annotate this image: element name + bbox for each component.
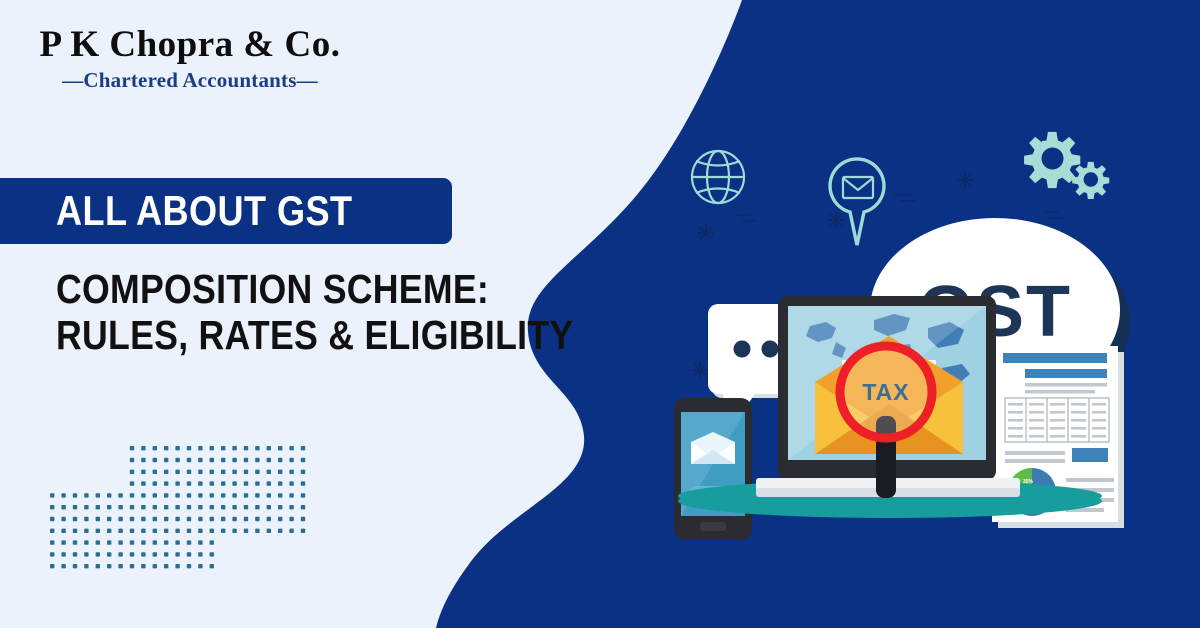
headline-kicker: ALL ABOUT GST [56,187,353,235]
brand-logo: P K Chopra & Co. —Chartered Accountants— [0,26,380,93]
brand-name: P K Chopra & Co. [0,26,380,65]
envelope-pin-icon [830,159,884,245]
gst-illustration: GST [660,120,1160,540]
decorative-dot-pattern [50,446,320,601]
gst-banner: P K Chopra & Co. —Chartered Accountants—… [0,0,1200,628]
envelope-stamp-label: TAX [862,379,909,405]
headline-subtitle-line-2: RULES, RATES & ELIGIBILITY [56,312,508,358]
headline-subtitle: COMPOSITION SCHEME: RULES, RATES & ELIGI… [56,266,576,358]
small-gear-icon [1072,162,1109,199]
brand-tagline: —Chartered Accountants— [0,68,380,93]
envelope-pin-glyph [843,177,873,198]
gear-icon [1024,132,1080,188]
globe-icon [692,151,744,203]
headline-subtitle-line-1: COMPOSITION SCHEME: [56,266,508,312]
headline-kicker-bar: ALL ABOUT GST [0,178,452,244]
smartphone-icon: SEND EMAIL [674,398,752,540]
